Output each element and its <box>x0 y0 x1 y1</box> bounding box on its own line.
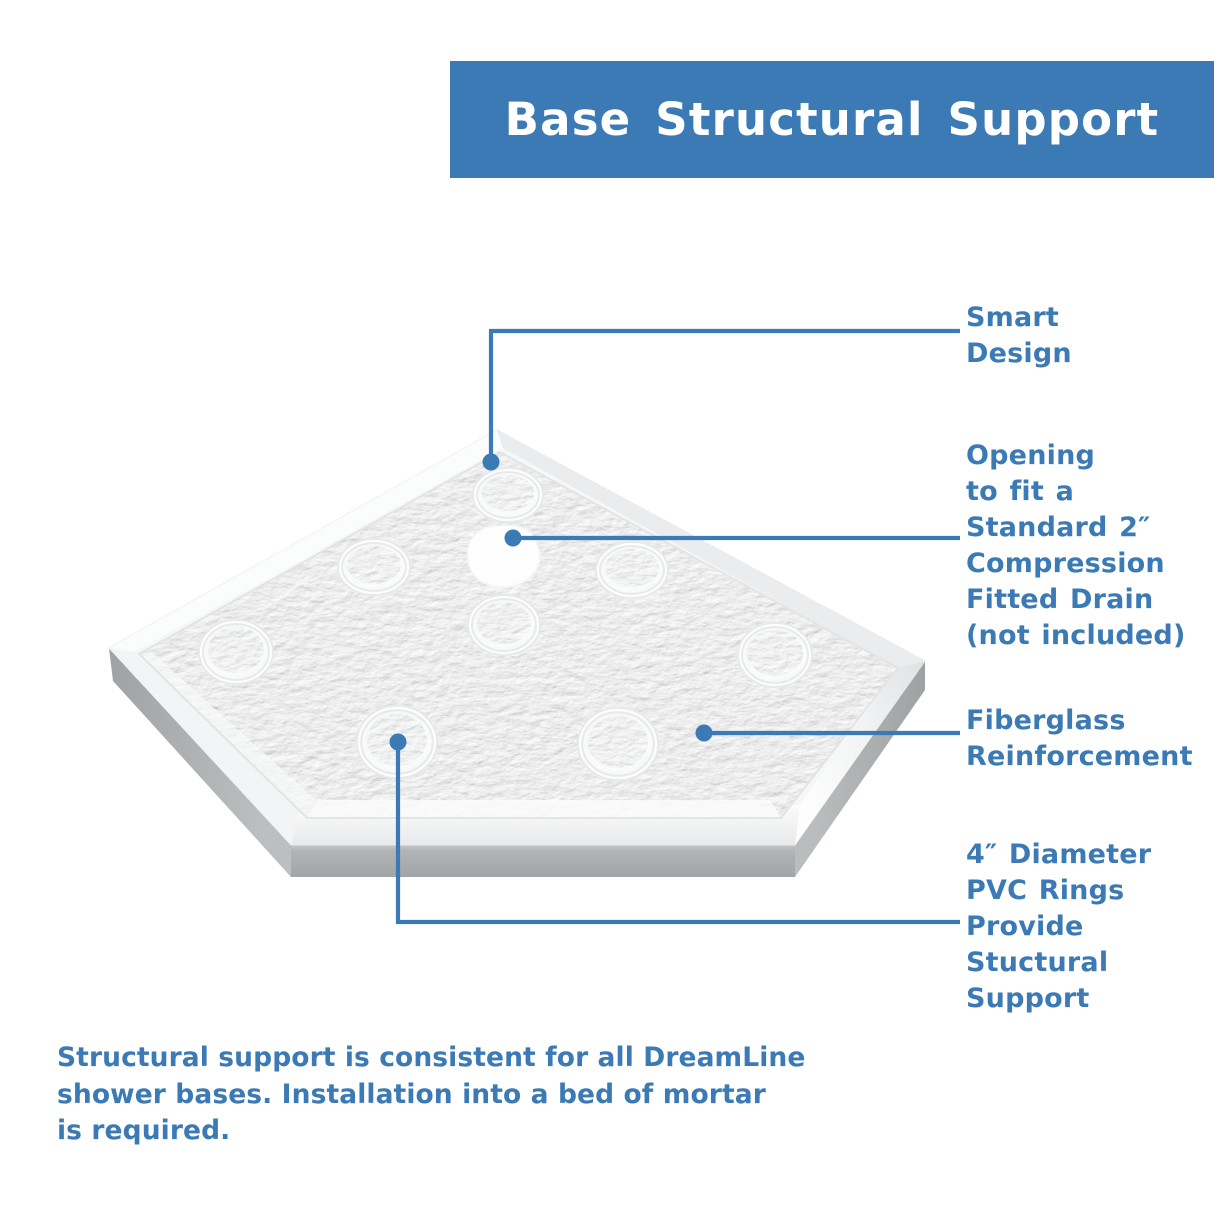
leader-line-smart-design <box>491 331 960 462</box>
callout-line: PVC Rings <box>966 873 1210 909</box>
footnote-line: Structural support is consistent for all… <box>57 1040 817 1077</box>
callout-line: Support <box>966 981 1210 1017</box>
pvc-ring <box>580 710 656 778</box>
callout-line: Provide <box>966 909 1210 945</box>
callout-line: (not included) <box>966 618 1210 654</box>
pvc-ring <box>340 541 408 593</box>
pvc-ring <box>740 625 810 685</box>
footnote-line: is required. <box>57 1113 817 1150</box>
callout-line: Stuctural <box>966 945 1210 981</box>
infographic-canvas: Base Structural Support Smart Design Ope… <box>0 0 1214 1214</box>
footnote-line: shower bases. Installation into a bed of… <box>57 1077 817 1114</box>
callout-line: 4″ Diameter <box>966 837 1210 873</box>
pvc-ring <box>598 544 666 596</box>
callout-drain-opening: Opening to fit a Standard 2″ Compression… <box>966 438 1210 653</box>
callout-pvc-rings: 4″ Diameter PVC Rings Provide Stuctural … <box>966 837 1210 1017</box>
leader-dot-fiberglass <box>696 725 713 742</box>
footnote-text: Structural support is consistent for all… <box>57 1040 817 1150</box>
callout-line: Smart <box>966 300 1206 336</box>
drain-opening <box>468 526 540 588</box>
callout-line: to fit a <box>966 474 1210 510</box>
pvc-ring <box>470 597 538 653</box>
leader-dot-drain-opening <box>505 530 522 547</box>
callout-line: Opening <box>966 438 1210 474</box>
callout-line: Standard 2″ <box>966 510 1210 546</box>
pvc-ring <box>475 470 541 520</box>
pvc-ring <box>201 622 271 682</box>
callout-smart-design: Smart Design <box>966 300 1206 372</box>
callout-line: Reinforcement <box>966 739 1210 775</box>
callout-line: Fiberglass <box>966 703 1210 739</box>
leader-dot-pvc-rings <box>390 734 407 751</box>
page-title: Base Structural Support <box>505 93 1160 146</box>
callout-line: Design <box>966 336 1206 372</box>
leader-dot-smart-design <box>483 454 500 471</box>
callout-line: Fitted Drain <box>966 582 1210 618</box>
callout-fiberglass-reinforcement: Fiberglass Reinforcement <box>966 703 1210 775</box>
header-banner: Base Structural Support <box>450 61 1214 178</box>
callout-line: Compression <box>966 546 1210 582</box>
